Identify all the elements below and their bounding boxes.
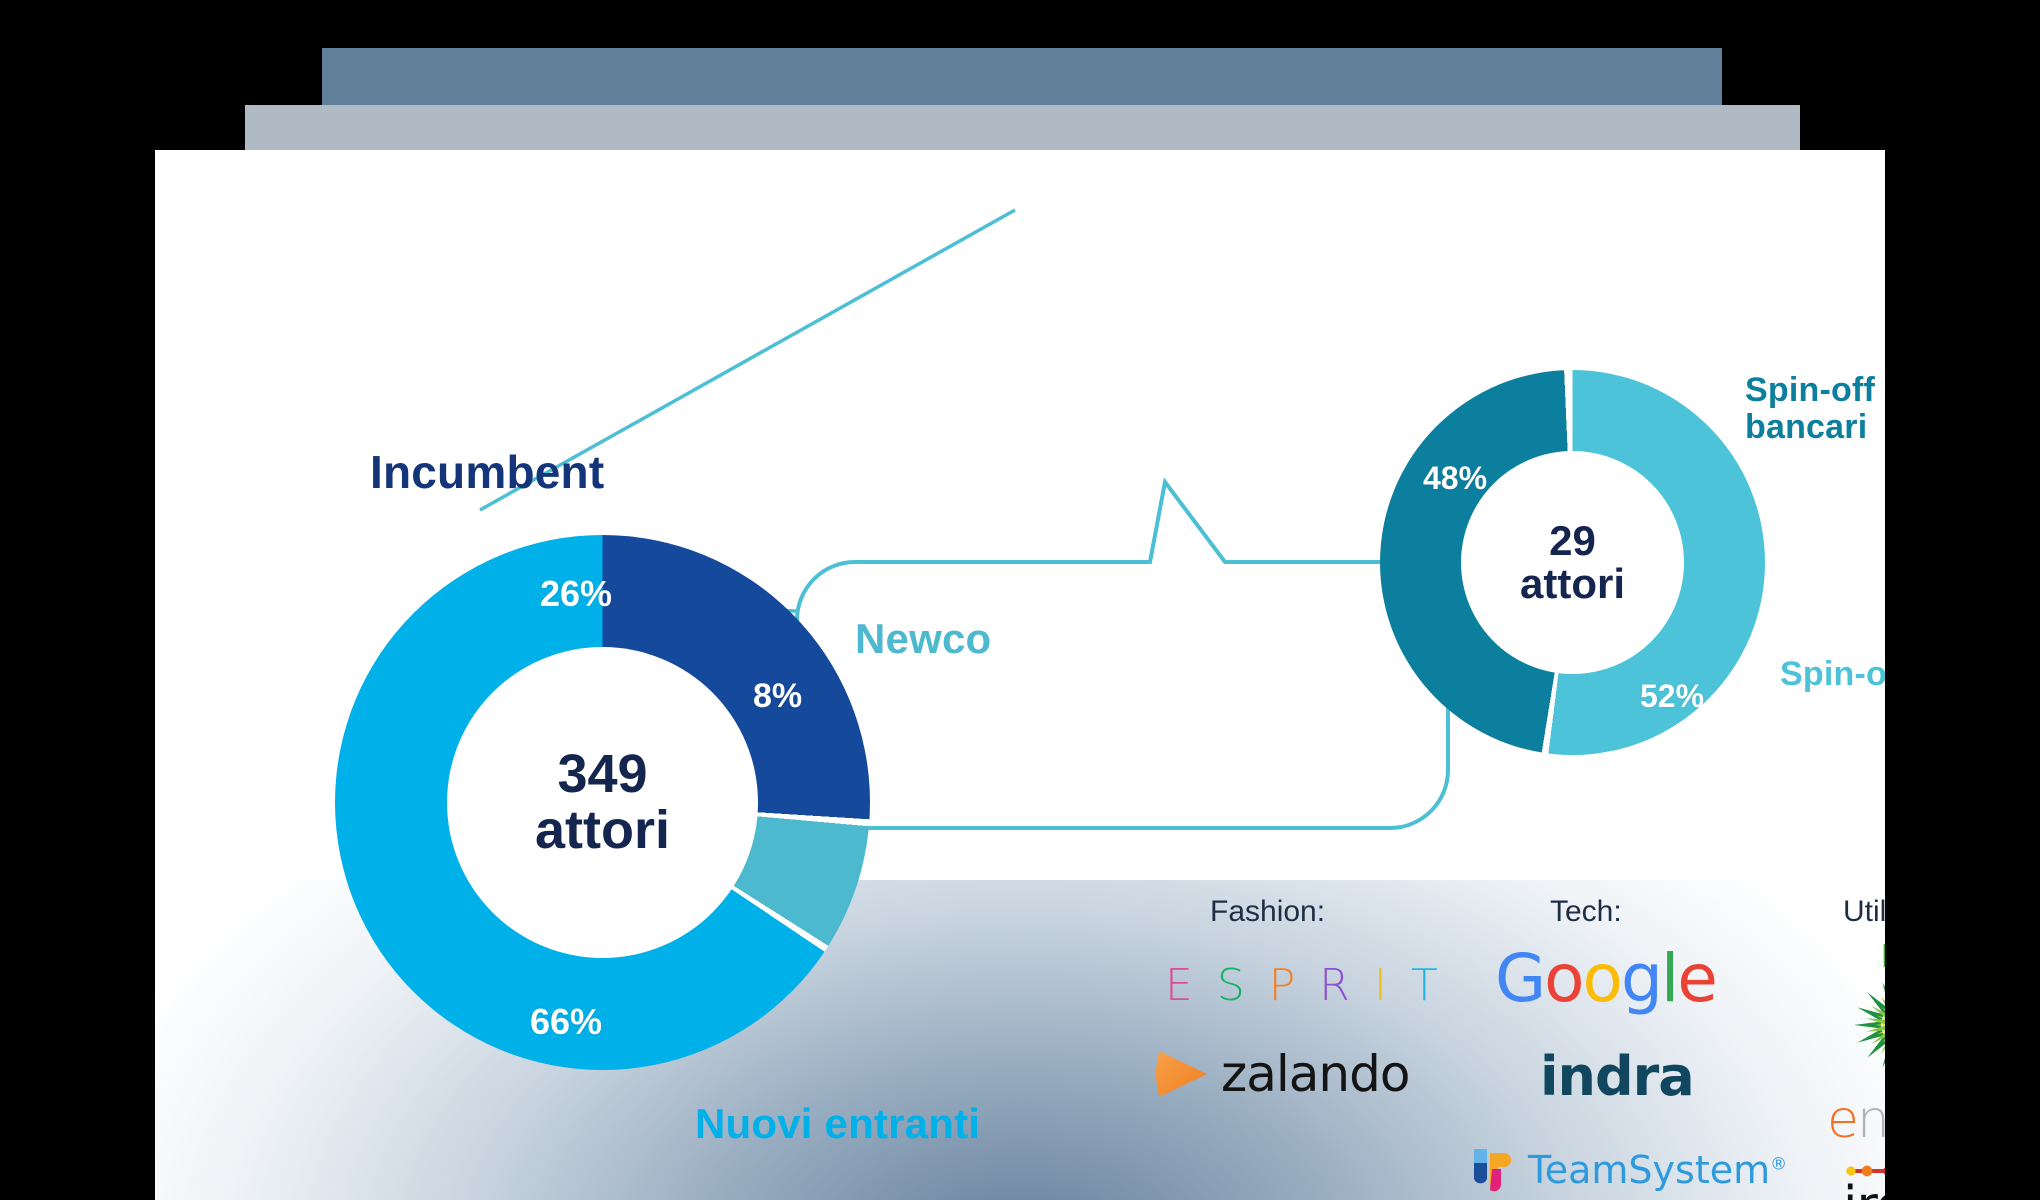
donut-chart-349-attori: 349 attori xyxy=(335,535,870,1070)
callout-heading-fashion: Fashion: xyxy=(1210,895,1325,929)
google-logo: Google xyxy=(1495,940,1716,1017)
label-newco: Newco xyxy=(855,615,991,663)
label-spin-off: Spin-off xyxy=(1780,655,1885,694)
bp-logo: bp xyxy=(1845,940,1885,1073)
callout-heading-utility: Utility: xyxy=(1843,895,1885,929)
slide-canvas: 349 attori 26% 8% 66% 29 attori 48% 52% … xyxy=(0,0,2040,1200)
bp-wordmark: bp xyxy=(1845,940,1885,975)
donut-left-center: 349 attori xyxy=(447,647,758,958)
label-spin-off-bancari-line2: bancari xyxy=(1745,409,1875,446)
zalando-mark-icon xyxy=(1155,1048,1207,1100)
zalando-logo: zalando xyxy=(1155,1045,1409,1103)
google-letter: G xyxy=(1495,940,1544,1017)
esprit-letter: P xyxy=(1269,960,1298,1011)
donut-right-slice-label-spinoff-bancari: 48% xyxy=(1423,460,1487,497)
donut-left-center-value: 349 xyxy=(557,747,647,802)
google-letter: e xyxy=(1677,940,1716,1017)
registered-icon: ® xyxy=(1770,1154,1787,1174)
donut-left-center-unit: attori xyxy=(535,803,670,858)
iren-dots-icon xyxy=(1843,1160,1885,1182)
slide-card: 349 attori 26% 8% 66% 29 attori 48% 52% … xyxy=(155,150,1885,1200)
bp-helios-icon xyxy=(1852,977,1885,1073)
teamsystem-wordmark: TeamSystem® xyxy=(1528,1148,1787,1192)
donut-right-center: 29 attori xyxy=(1461,451,1684,674)
indra-logo: indra xyxy=(1540,1045,1694,1108)
enel-letter: e xyxy=(1827,1090,1857,1150)
teamsystem-mark-icon xyxy=(1470,1145,1516,1195)
donut-chart-29-attori: 29 attori xyxy=(1380,370,1765,755)
esprit-letter: E xyxy=(1165,960,1195,1011)
donut-right-center-unit: attori xyxy=(1520,563,1625,606)
callout-heading-tech: Tech: xyxy=(1550,895,1622,929)
label-nuovi-entranti: Nuovi entranti xyxy=(695,1100,980,1148)
teamsystem-wordmark-text: TeamSystem xyxy=(1528,1148,1770,1192)
label-spin-off-bancari: Spin-off bancari xyxy=(1745,372,1875,445)
donut-left-slice-label-incumbent: 26% xyxy=(540,573,612,615)
label-incumbent: Incumbent xyxy=(370,445,604,499)
teamsystem-logo: TeamSystem® xyxy=(1470,1145,1787,1195)
iren-logo: iren xyxy=(1843,1160,1885,1200)
esprit-letter: I xyxy=(1374,960,1389,1011)
zalando-wordmark: zalando xyxy=(1221,1045,1409,1103)
esprit-letter: S xyxy=(1217,960,1247,1011)
donut-right-center-value: 29 xyxy=(1549,520,1596,563)
iren-wordmark: iren xyxy=(1843,1182,1885,1200)
google-letter: l xyxy=(1661,940,1677,1017)
google-letter: o xyxy=(1544,940,1582,1017)
enel-logo: enel xyxy=(1827,1090,1885,1150)
donut-left-slice-label-nuovi-entranti: 66% xyxy=(530,1001,602,1043)
enel-letter: n xyxy=(1857,1090,1885,1150)
donut-right-slice-label-spinoff: 52% xyxy=(1640,678,1704,715)
label-spin-off-bancari-line1: Spin-off xyxy=(1745,372,1875,409)
donut-left-slice-label-newco: 8% xyxy=(753,677,802,716)
esprit-letter: T xyxy=(1411,960,1440,1011)
google-letter: o xyxy=(1583,940,1621,1017)
google-letter: g xyxy=(1621,940,1661,1017)
esprit-letter: R xyxy=(1319,960,1352,1011)
esprit-logo: ESPRIT xyxy=(1165,960,1440,1011)
